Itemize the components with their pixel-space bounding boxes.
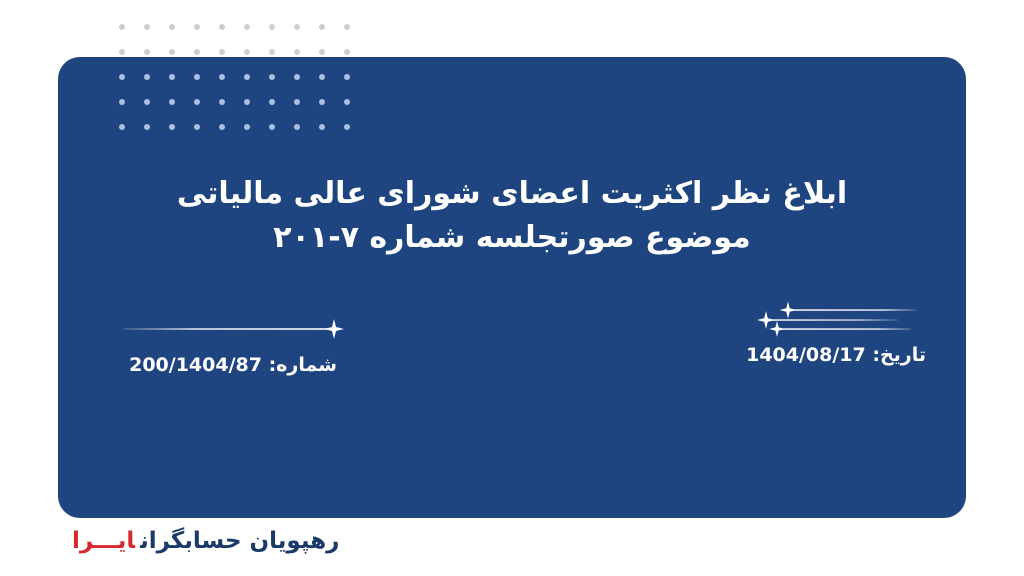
headline-line-2: موضوع صورتجلسه شماره ۷-۲۰۱ <box>0 216 1024 260</box>
grid-dot <box>344 24 350 30</box>
grid-dot <box>244 24 250 30</box>
grid-dot <box>119 24 125 30</box>
document-number-block: شماره: 200/1404/87 <box>118 318 348 377</box>
document-number-text: شماره: 200/1404/87 <box>118 354 348 377</box>
grid-dot <box>194 49 200 55</box>
slide-canvas: ابلاغ نظر اکثریت اعضای شورای عالی مالیات… <box>0 0 1024 576</box>
grid-dot <box>344 49 350 55</box>
brand-logo-accent-text: ایـــرا <box>72 528 135 554</box>
headline-line-1: ابلاغ نظر اکثریت اعضای شورای عالی مالیات… <box>0 172 1024 216</box>
grid-dot <box>219 49 225 55</box>
grid-dot <box>294 24 300 30</box>
sparkle-icon <box>757 311 775 329</box>
headline-block: ابلاغ نظر اکثریت اعضای شورای عالی مالیات… <box>0 172 1024 259</box>
grid-dot <box>194 24 200 30</box>
sparkle-icon <box>769 321 785 337</box>
sparkle-icon <box>780 302 797 319</box>
grid-dot <box>119 49 125 55</box>
grid-dot <box>169 24 175 30</box>
grid-dot <box>144 49 150 55</box>
grid-dot <box>144 24 150 30</box>
date-lines-decoration <box>726 302 926 340</box>
grid-dot <box>319 49 325 55</box>
grid-dot <box>169 49 175 55</box>
sparkle-icon <box>324 319 344 339</box>
grid-dot <box>294 49 300 55</box>
brand-logo-main-text: رهپویان حسابگران <box>140 528 339 554</box>
navy-card-panel <box>58 57 966 518</box>
brand-logo: رهپویان حسابگرانایـــرا <box>72 530 339 553</box>
grid-dot <box>244 49 250 55</box>
document-date-text: تاریخ: 1404/08/17 <box>726 344 926 367</box>
grid-dot <box>319 24 325 30</box>
number-line-decoration <box>118 318 348 350</box>
document-date-block: تاریخ: 1404/08/17 <box>726 302 926 367</box>
grid-dot <box>219 24 225 30</box>
grid-dot <box>269 49 275 55</box>
grid-dot <box>269 24 275 30</box>
